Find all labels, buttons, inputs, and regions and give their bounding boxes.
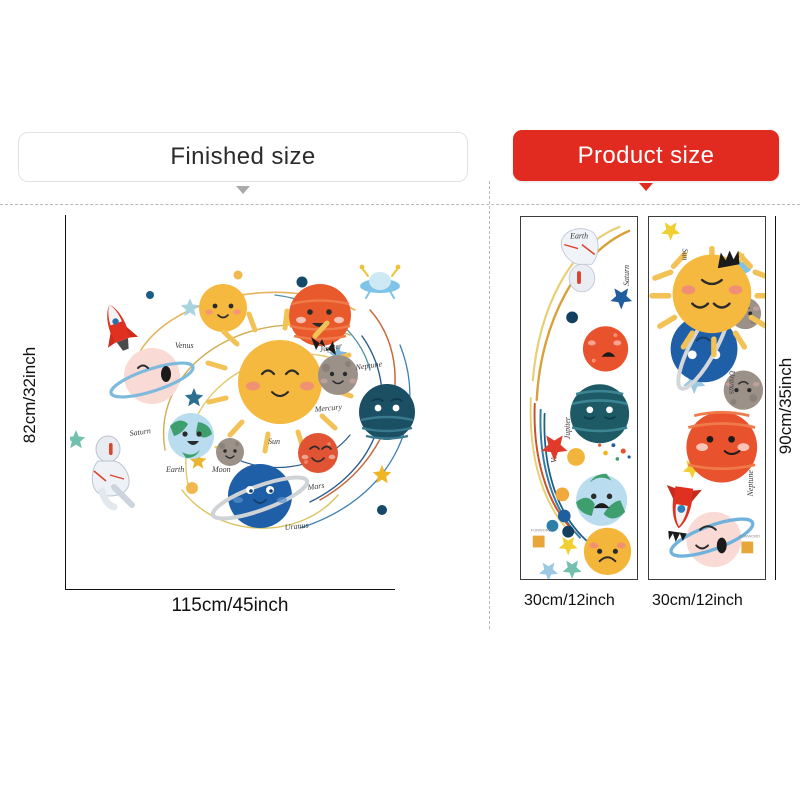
svg-text:Saturn: Saturn <box>622 265 631 286</box>
planet-venus <box>199 284 247 332</box>
planet-label-mercury: Mercury <box>313 402 342 414</box>
planet-earth <box>168 413 214 459</box>
ufo-icon <box>360 265 401 298</box>
planet-label-venus: Venus <box>175 341 194 350</box>
deco-dot <box>186 482 198 494</box>
finished-height-label: 82cm/32inch <box>20 325 40 465</box>
planet-mars <box>298 433 338 473</box>
horizontal-dashed-divider <box>0 204 800 205</box>
finished-height-ruler <box>65 215 66 590</box>
star-icon <box>373 465 391 483</box>
screenshot-canvas: Finished size Product size 82cm/32inch 1… <box>0 0 800 800</box>
product-size-label: Product size <box>578 142 715 170</box>
rocket-icon <box>94 299 140 355</box>
svg-text:Earth: Earth <box>569 232 588 241</box>
deco-dot <box>297 277 308 288</box>
finished-width-label: 115cm/45inch <box>100 595 360 617</box>
sheet-width-label-left: 30cm/12inch <box>524 592 615 610</box>
astronaut-icon <box>92 436 132 507</box>
deco-dot <box>146 291 154 299</box>
star-icon <box>70 430 85 448</box>
vertical-dashed-divider <box>489 181 490 629</box>
product-height-label: 90cm/35inch <box>776 336 796 476</box>
star-icon <box>185 388 203 406</box>
svg-text:Uranus: Uranus <box>728 370 737 394</box>
planet-moon <box>216 438 244 466</box>
planet-neptune <box>359 384 415 440</box>
svg-text:Jupiter: Jupiter <box>563 416 572 439</box>
svg-text:Neptune: Neptune <box>746 470 755 498</box>
sheet-width-label-right: 30cm/12inch <box>652 592 743 610</box>
planet-label-uranus: Uranus <box>284 521 309 532</box>
solar-system-artwork: Saturn Venus Jupiter <box>70 240 440 560</box>
finished-size-caret-icon <box>236 186 250 194</box>
product-sheet-left: Earth Saturn <box>520 216 638 580</box>
planet-label-moon: Moon <box>211 465 231 474</box>
svg-text:FORWORD: FORWORD <box>739 534 760 539</box>
planet-label-saturn: Saturn <box>129 426 151 438</box>
deco-dot <box>377 505 387 515</box>
finished-size-label: Finished size <box>170 143 315 171</box>
planet-label-sun: Sun <box>268 437 280 446</box>
product-size-header: Product size <box>513 130 779 181</box>
product-size-caret-icon <box>639 183 653 191</box>
svg-text:FORWORD: FORWORD <box>531 528 552 533</box>
finished-size-header: Finished size <box>18 132 468 182</box>
deco-dot <box>234 271 243 280</box>
planet-jupiter <box>289 284 351 346</box>
planet-mercury <box>318 355 358 395</box>
planet-label-earth: Earth <box>165 465 184 474</box>
finished-width-ruler <box>65 589 395 590</box>
svg-text:Sun: Sun <box>680 249 689 261</box>
product-sheet-right: Neptune <box>648 216 766 580</box>
